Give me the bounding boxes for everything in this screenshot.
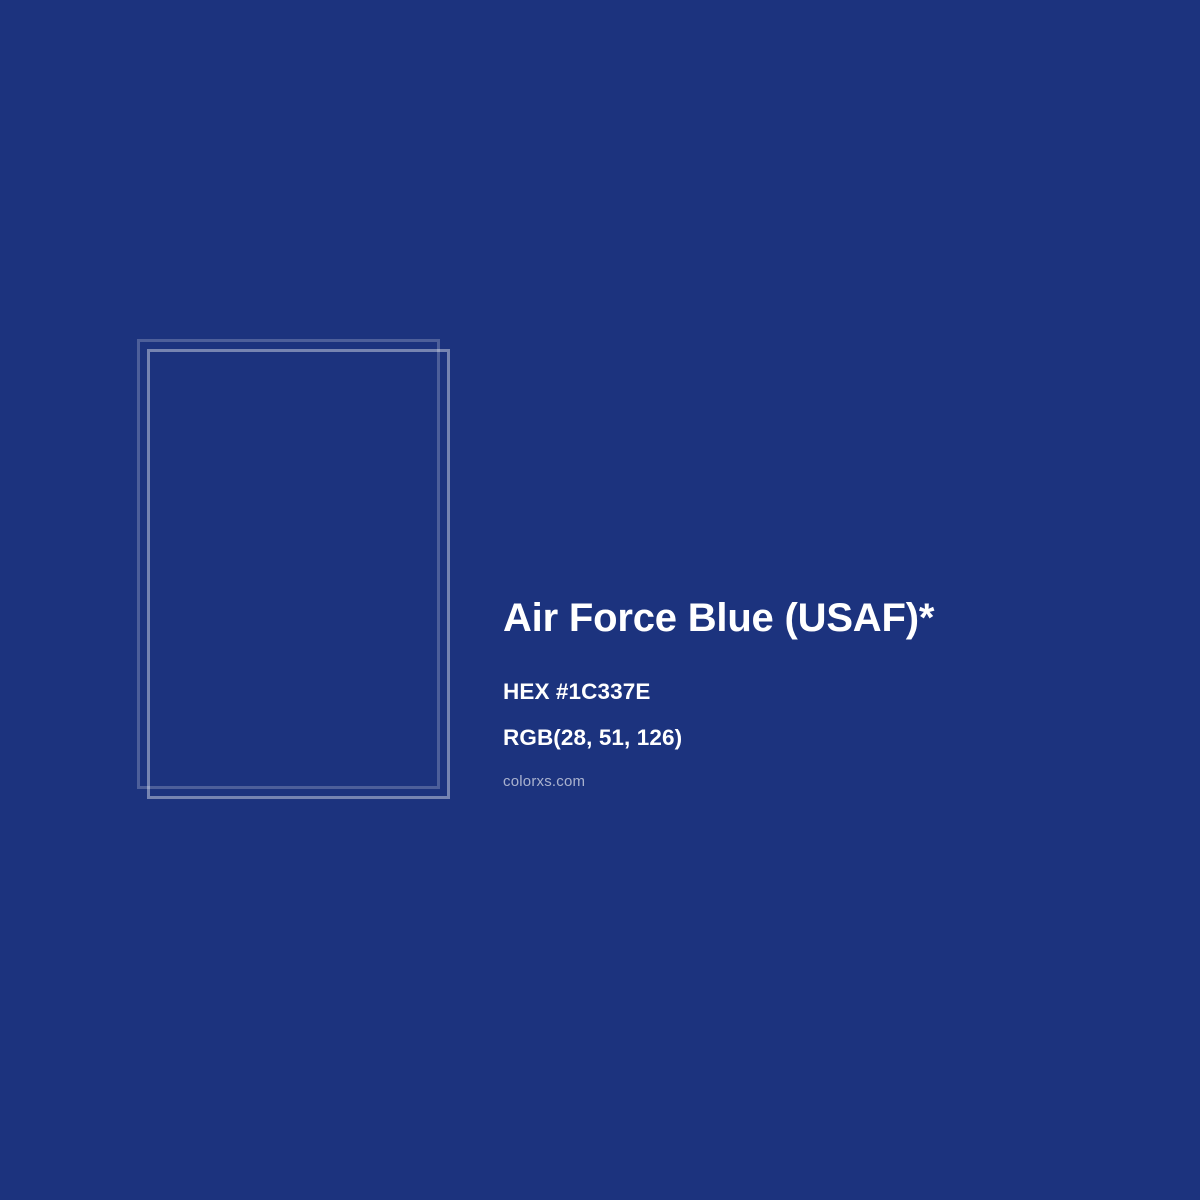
- decorative-frame-front: [147, 349, 450, 799]
- hex-value-label: HEX #1C337E: [503, 679, 1123, 705]
- swatch-info-block: Air Force Blue (USAF)* HEX #1C337E RGB(2…: [503, 596, 1123, 805]
- rgb-value-label: RGB(28, 51, 126): [503, 725, 1123, 751]
- decorative-frame-back: [137, 339, 440, 789]
- site-credit-label: colorxs.com: [503, 773, 1123, 790]
- color-name-title: Air Force Blue (USAF)*: [503, 596, 1123, 641]
- color-swatch-card: Air Force Blue (USAF)* HEX #1C337E RGB(2…: [0, 0, 1200, 1200]
